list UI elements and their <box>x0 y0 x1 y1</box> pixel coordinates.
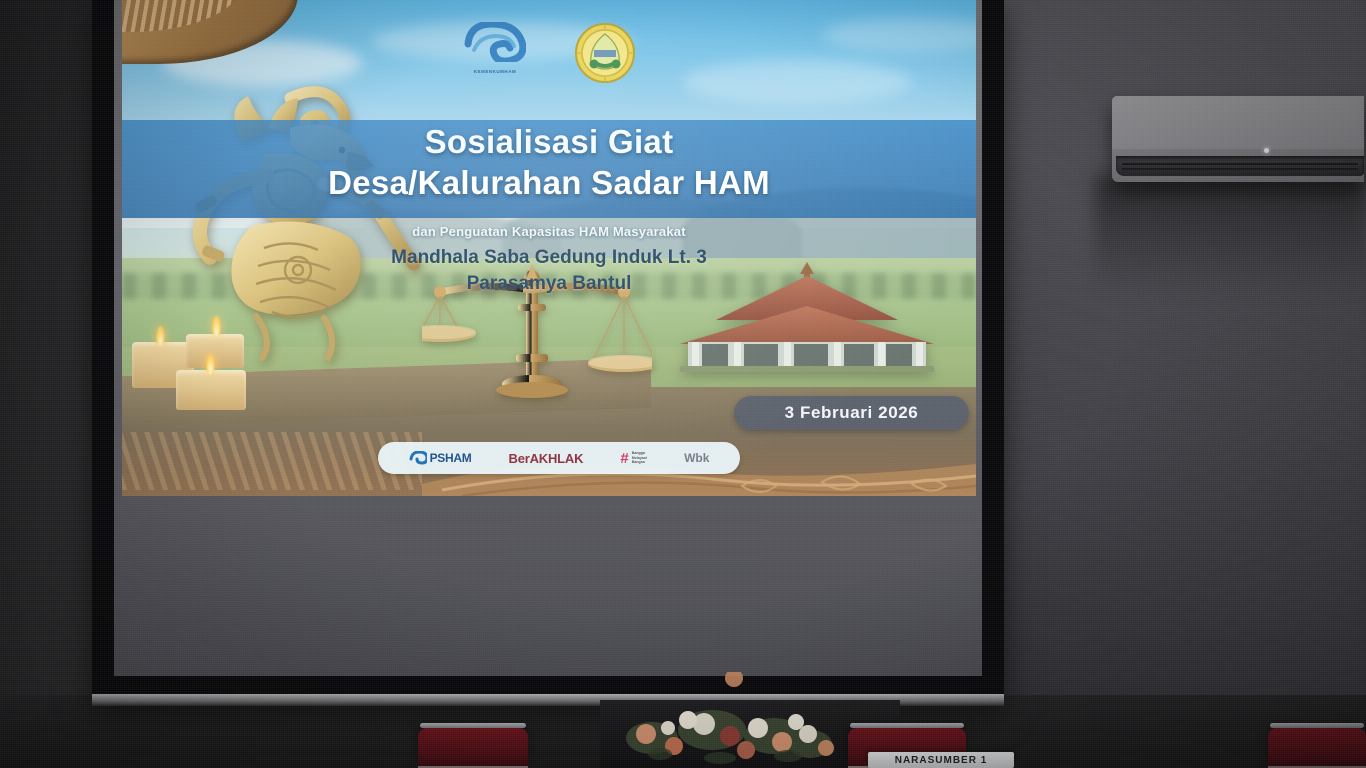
wbk-label: Wbk <box>684 451 709 465</box>
title-line-1: Sosialisasi Giat <box>122 122 976 162</box>
ac-shadow <box>1095 176 1366 296</box>
candle-flame-icon <box>156 326 165 346</box>
slide-logo-row: KEMENKUMHAM <box>122 22 976 84</box>
slide-footer-logo-bar: PSHAM BerAKHLAK # BanggaMelayaniBangsa W… <box>378 442 740 474</box>
psham-logo: PSHAM <box>409 451 472 465</box>
slide-venue: Mandhala Saba Gedung Induk Lt. 3 Parasam… <box>122 245 976 297</box>
ac-air-vent <box>1116 156 1364 176</box>
candle <box>186 334 244 368</box>
chair <box>418 728 528 768</box>
carved-ornament-left <box>122 432 422 490</box>
venue-line-1: Mandhala Saba Gedung Induk Lt. 3 <box>122 245 976 271</box>
slide-date-text: 3 Februari 2026 <box>785 403 919 423</box>
kemenkumham-caption: KEMENKUMHAM <box>462 69 528 74</box>
ac-status-led <box>1264 148 1269 153</box>
bangga-melayani-bangsa-logo: # BanggaMelayaniBangsa <box>620 450 647 467</box>
berakhlak-label: BerAKHLAK <box>509 451 584 466</box>
bangga-melayani-caption: BanggaMelayaniBangsa <box>632 451 647 464</box>
photo-scene: KEMENKUMHAM Sosialisasi Giat Desa/Kalura… <box>0 0 1366 768</box>
bantul-regency-seal-icon <box>574 22 636 84</box>
chair <box>1268 728 1366 768</box>
venue-line-2: Parasamya Bantul <box>122 271 976 297</box>
candle-flame-icon <box>206 354 215 374</box>
slide-subtitle: dan Penguatan Kapasitas HAM Masyarakat <box>122 224 976 239</box>
psham-label: PSHAM <box>430 451 472 465</box>
kemenkumham-logo: KEMENKUMHAM <box>462 22 528 84</box>
speaker-name-placard: NARASUMBER 1 <box>868 752 1014 768</box>
psham-swoosh-icon <box>409 451 427 465</box>
candles-group <box>128 308 268 418</box>
slide-date-badge: 3 Februari 2026 <box>734 396 969 430</box>
floral-centerpiece <box>612 672 850 768</box>
wbk-mark: Wbk <box>684 451 709 465</box>
kemenkumham-swoosh-icon <box>464 22 526 62</box>
chair-rail <box>1270 723 1364 728</box>
air-conditioner-icon <box>1112 96 1364 182</box>
placard-text: NARASUMBER 1 <box>895 755 988 766</box>
slide-title: Sosialisasi Giat Desa/Kalurahan Sadar HA… <box>122 122 976 204</box>
candle-flame-icon <box>212 316 221 336</box>
title-line-2: Desa/Kalurahan Sadar HAM <box>122 162 976 204</box>
chair-rail <box>850 723 964 728</box>
ac-front-panel <box>1112 96 1364 149</box>
candle <box>176 370 246 410</box>
hashtag-icon: # <box>620 450 628 467</box>
berakhlak-logo: BerAKHLAK <box>509 451 584 466</box>
chair-rail <box>420 723 526 728</box>
presentation-slide: KEMENKUMHAM Sosialisasi Giat Desa/Kalura… <box>122 0 976 496</box>
